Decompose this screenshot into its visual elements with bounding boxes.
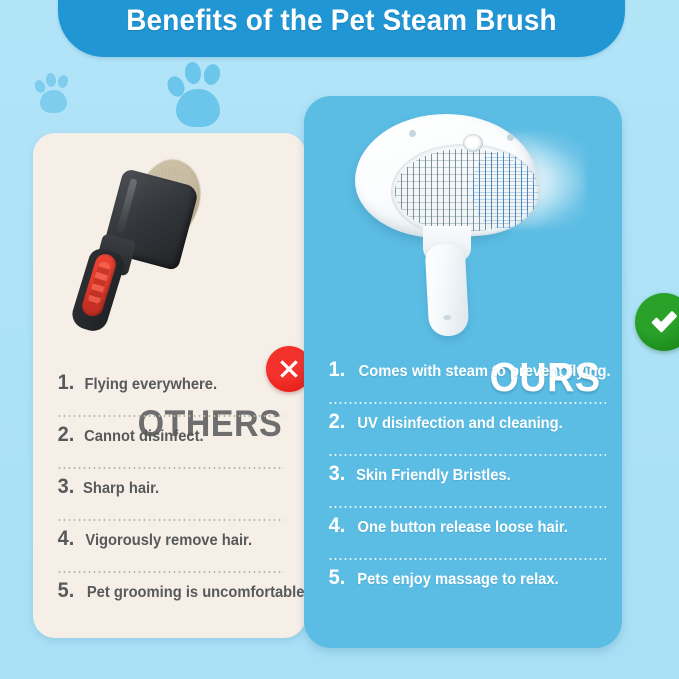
list-item: 2. UV disinfection and cleaning.: [328, 410, 606, 462]
list-separator: [57, 519, 284, 521]
infographic-page: Benefits of the Pet Steam Brush: [0, 0, 679, 679]
paw-toe: [202, 62, 223, 86]
list-item-number: 3.: [329, 462, 352, 486]
list-separator: [328, 506, 606, 508]
list-separator: [57, 415, 284, 417]
list-item-text: Cannot disinfect.: [84, 428, 203, 446]
list-separator: [328, 558, 606, 560]
paw-print-icon-small: [34, 72, 74, 114]
list-item-number: 2.: [58, 423, 81, 447]
list-item: 1. Comes with steam to prevent flying.: [328, 358, 606, 410]
paw-print-icon-large: [168, 62, 232, 128]
list-item: 2. Cannot disinfect.: [57, 423, 284, 475]
paw-pad: [40, 90, 67, 113]
list-separator: [328, 402, 606, 404]
list-item-number: 1.: [329, 358, 352, 382]
list-item-text: Vigorously remove hair.: [85, 532, 252, 550]
others-hero: OTHERS: [33, 133, 306, 363]
screw-dot: [409, 130, 416, 137]
header-banner: Benefits of the Pet Steam Brush: [58, 0, 625, 57]
others-list: 1. Flying everywhere. 2. Cannot disinfec…: [33, 371, 306, 631]
pet-steam-brush-image: [337, 102, 585, 337]
list-item-number: 5.: [58, 579, 81, 603]
ours-list: 1. Comes with steam to prevent flying. 2…: [304, 358, 622, 618]
slicker-brush-image: [39, 130, 222, 356]
paw-toe: [184, 61, 203, 85]
list-item: 1. Flying everywhere.: [57, 371, 284, 423]
list-item-text: Skin Friendly Bristles.: [356, 467, 511, 485]
list-item-number: 5.: [329, 566, 352, 590]
list-item-number: 3.: [58, 475, 81, 499]
list-item-number: 4.: [58, 527, 81, 551]
paw-pad: [176, 89, 220, 127]
check-mark-icon: [635, 293, 679, 351]
list-item-text: Pets enjoy massage to relax.: [357, 571, 558, 589]
list-separator: [57, 467, 284, 469]
others-card: OTHERS 1. Flying everywhere. 2. Cannot d…: [33, 133, 306, 638]
list-item: 5. Pet grooming is uncomfortable.: [57, 579, 284, 631]
list-item: 3. Sharp hair.: [57, 475, 284, 527]
screw-dot: [507, 134, 514, 141]
list-item-text: Comes with steam to prevent flying.: [359, 363, 611, 381]
list-item-number: 2.: [329, 410, 352, 434]
list-item-number: 1.: [58, 371, 81, 395]
list-item-text: One button release loose hair.: [358, 519, 568, 537]
page-title: Benefits of the Pet Steam Brush: [78, 4, 605, 38]
steam-vent: [463, 134, 483, 152]
bristles-steam-zone: [473, 152, 539, 228]
ours-hero: OURS: [304, 96, 622, 346]
list-item-number: 4.: [329, 514, 352, 538]
list-item-text: Pet grooming is uncomfortable.: [87, 584, 309, 602]
list-item-text: UV disinfection and cleaning.: [357, 415, 562, 433]
brush-handle: [425, 243, 470, 337]
brush-head: [355, 114, 537, 238]
paw-toe: [57, 74, 70, 89]
list-item: 5. Pets enjoy massage to relax.: [328, 566, 606, 618]
list-item: 4. One button release loose hair.: [328, 514, 606, 566]
list-item: 4. Vigorously remove hair.: [57, 527, 284, 579]
list-separator: [328, 454, 606, 456]
list-item-text: Flying everywhere.: [84, 376, 217, 394]
list-separator: [57, 571, 284, 573]
paw-toe: [45, 73, 56, 88]
list-item-text: Sharp hair.: [83, 480, 159, 498]
bristle-plate: [391, 144, 539, 236]
ours-card: OURS 1. Comes with steam to prevent flyi…: [304, 96, 622, 648]
list-item: 3. Skin Friendly Bristles.: [328, 462, 606, 514]
